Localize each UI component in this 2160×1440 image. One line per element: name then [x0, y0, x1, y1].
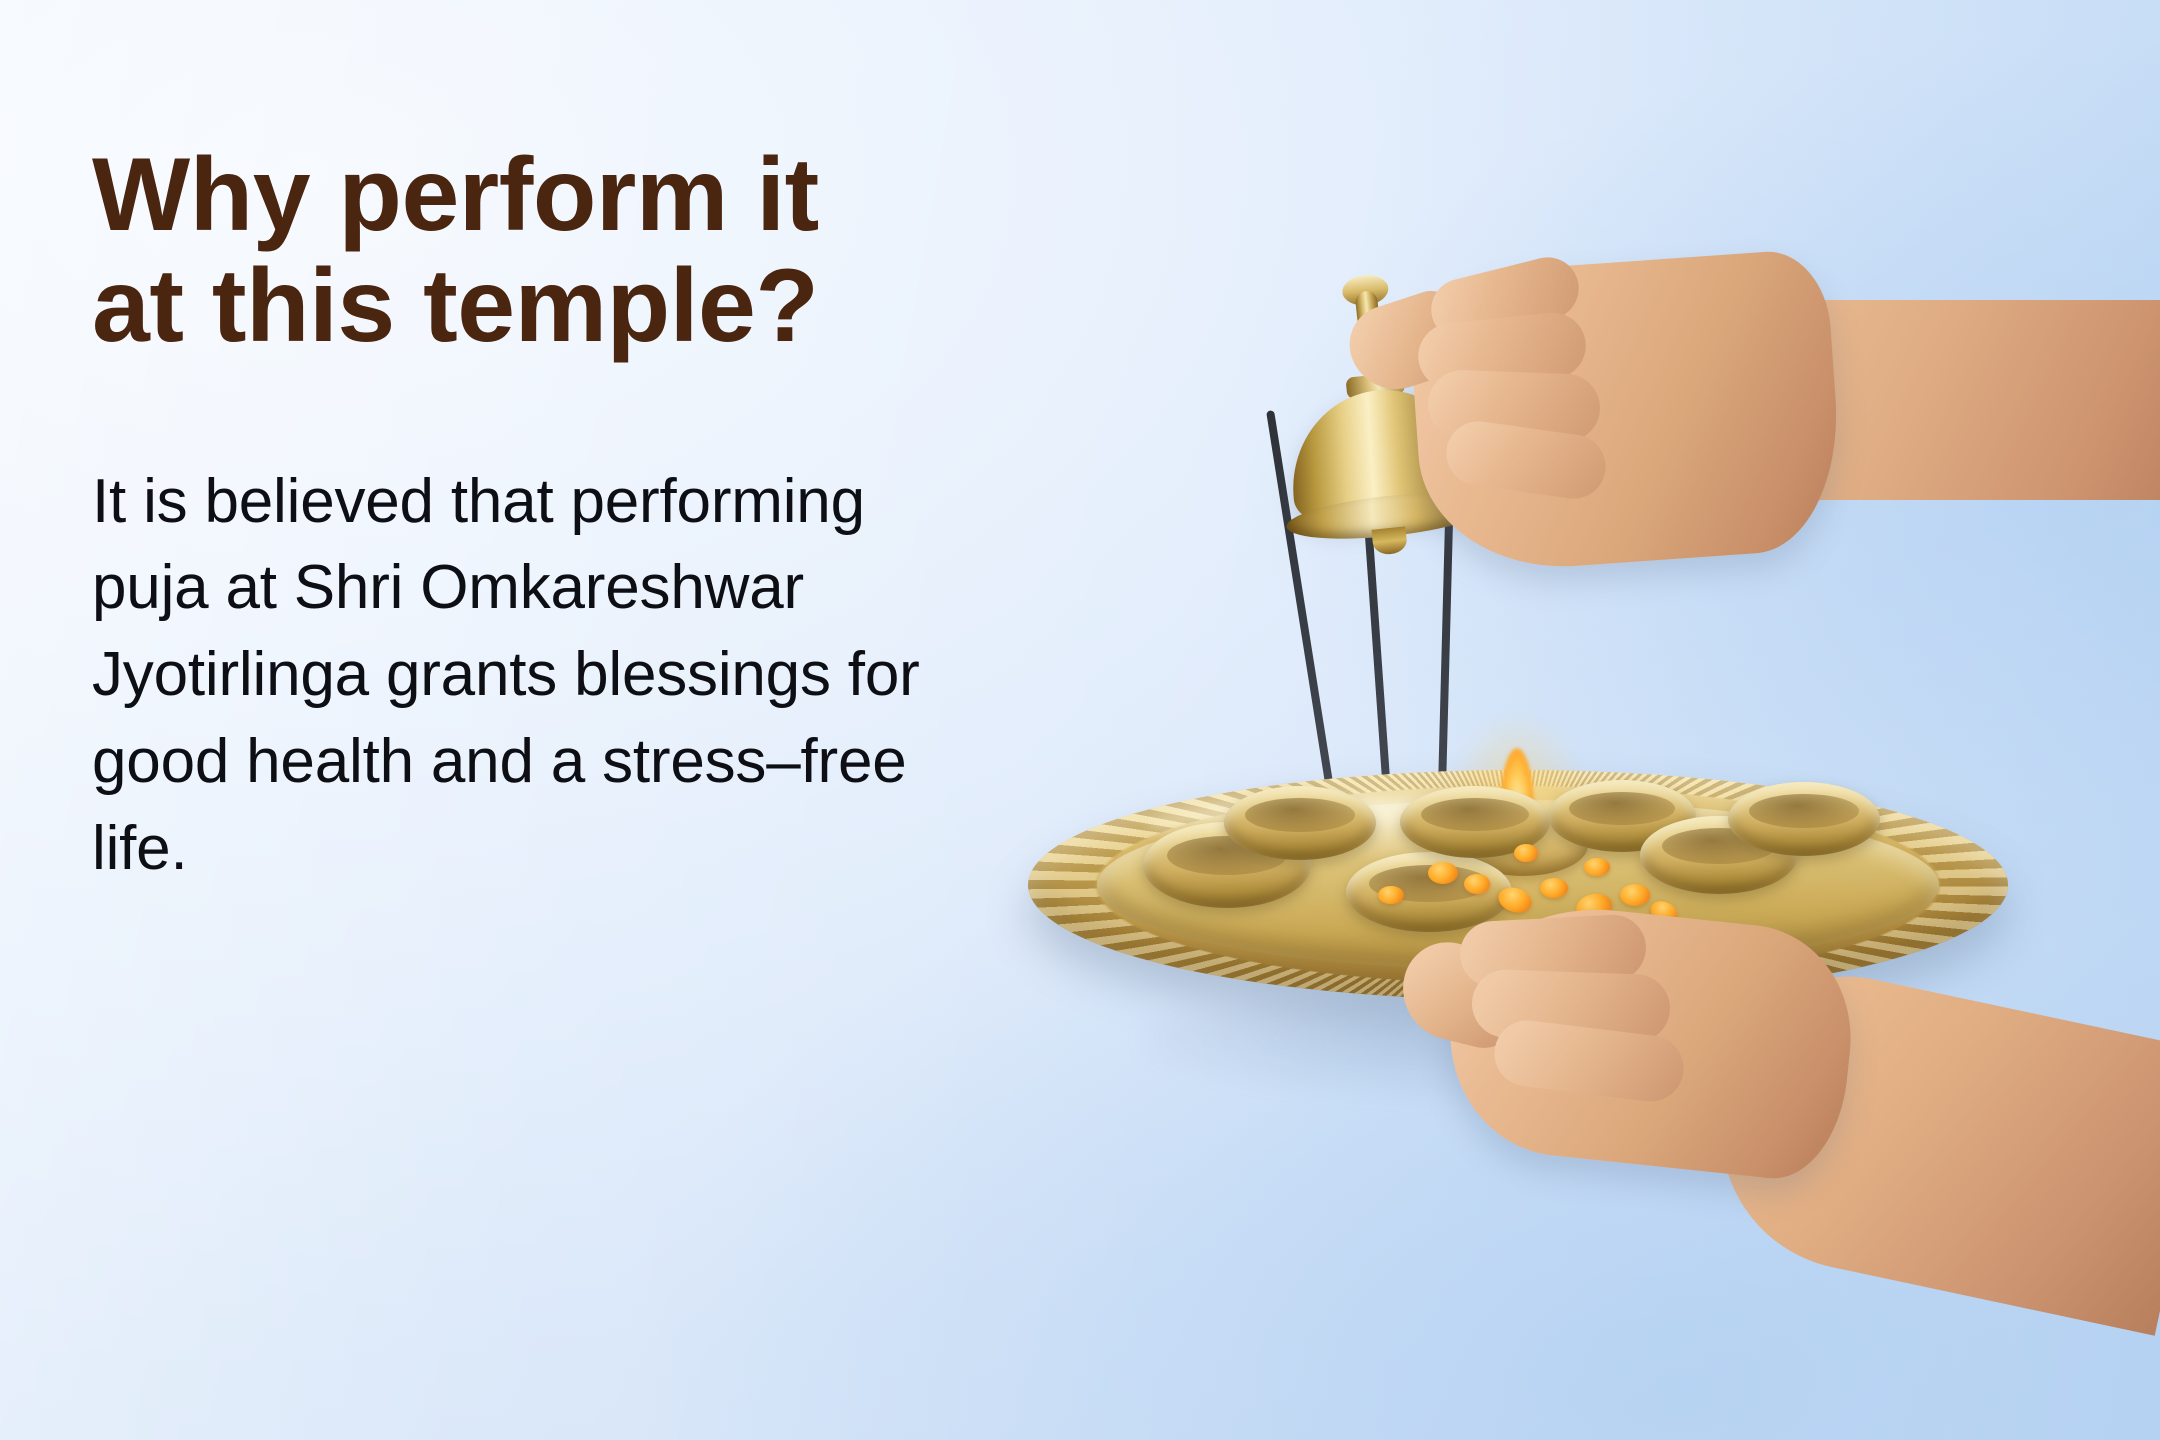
marigold-petal [1428, 862, 1458, 884]
marigold-petal [1378, 886, 1404, 904]
text-column: Why perform it at this temple? It is bel… [92, 140, 1032, 893]
marigold-petal [1514, 844, 1538, 862]
puja-photo [1020, 0, 2160, 1440]
marigold-petal [1495, 883, 1535, 916]
page-title: Why perform it at this temple? [92, 140, 1032, 363]
marigold-petal [1540, 878, 1568, 898]
slide-canvas: Why perform it at this temple? It is bel… [0, 0, 2160, 1440]
marigold-petal [1584, 858, 1610, 876]
marigold-petal [1620, 884, 1650, 906]
body-paragraph: It is believed that performing puja at S… [92, 459, 992, 893]
marigold-petal [1464, 874, 1490, 894]
